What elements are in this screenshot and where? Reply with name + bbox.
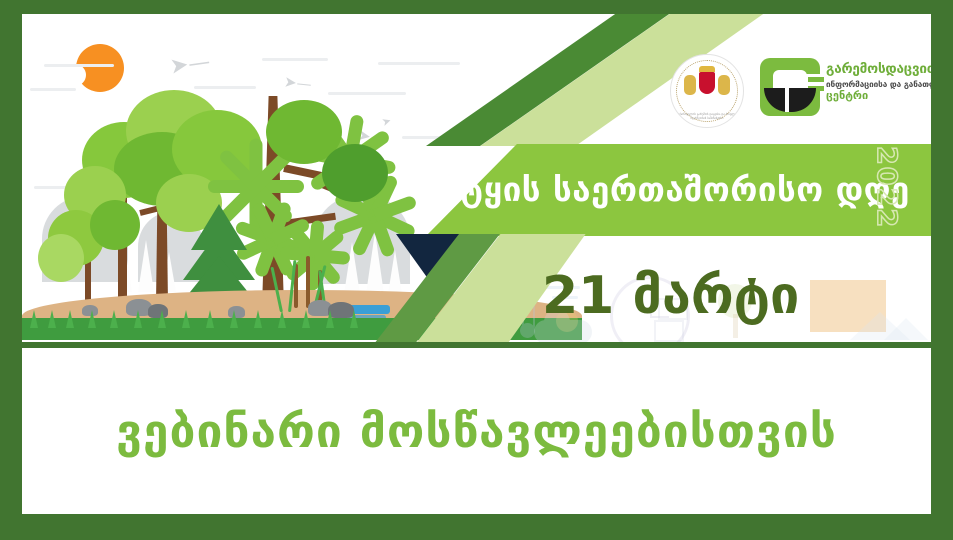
logo-book-spine: [785, 88, 789, 112]
bird-icon: ➤—: [169, 51, 212, 78]
cloud-line: [44, 64, 114, 67]
logo-line-3: ცენტრი: [826, 90, 931, 102]
grass-tuft: [110, 310, 118, 328]
grass-tuft: [158, 310, 166, 328]
event-date: 21 მარტი: [542, 266, 931, 326]
banner-title: ტყის საერთაშორისო დღე: [460, 170, 910, 209]
grass-tuft: [66, 310, 74, 328]
grass-tuft: [30, 310, 38, 328]
grass-tuft: [48, 310, 56, 328]
top-panel: ➤— ➤— ➤ ➤— ➤: [22, 14, 931, 342]
banner-year: 2022: [871, 146, 902, 256]
ministry-seal: საქართველოს გარემოს დაცვისა და სოფლის მე…: [670, 54, 744, 128]
cloud-line: [262, 58, 328, 61]
grass-tuft: [230, 310, 238, 328]
eiec-logo: გარემოსდაცვითი ინფორმაციისა და განათლები…: [760, 56, 931, 122]
cloud-line: [378, 62, 460, 65]
logo-text: გარემოსდაცვითი ინფორმაციისა და განათლები…: [826, 62, 931, 102]
tree-canopy: [280, 214, 350, 284]
grass-tuft: [302, 310, 310, 328]
cattail: [306, 256, 310, 308]
cloud-line: [30, 88, 76, 91]
grass-tuft: [326, 310, 334, 328]
sun-notch: [64, 64, 86, 86]
grass-tuft: [134, 310, 142, 328]
grass-tuft: [182, 310, 190, 328]
seal-shield: [699, 72, 715, 94]
grass-tuft: [88, 310, 96, 328]
logo-line-2: ინფორმაციისა და განათლების: [826, 79, 931, 89]
grass-tuft: [278, 310, 286, 328]
tree-canopy: [90, 200, 140, 250]
grass-tuft: [254, 310, 262, 328]
seal-caption: საქართველოს გარემოს დაცვისა და სოფლის მე…: [671, 113, 743, 120]
grass-tuft: [350, 310, 358, 328]
seal-lion-right: [718, 75, 730, 95]
tree-canopy: [322, 144, 388, 202]
seal-lion-left: [684, 75, 696, 95]
poster-root: ➤— ➤— ➤ ➤— ➤: [0, 0, 953, 540]
webinar-headline: ვებინარი მოსწავლეებისთვის: [22, 348, 931, 514]
cloud-line: [194, 86, 256, 89]
logo-line-1: გარემოსდაცვითი: [826, 62, 931, 77]
seal-crown: [699, 66, 715, 72]
cloud-line: [328, 92, 406, 95]
tree-canopy: [38, 234, 84, 282]
logo-dash: [808, 77, 824, 82]
logo-mark: [760, 58, 820, 116]
grass-tuft: [206, 310, 214, 328]
bird-icon: ➤—: [283, 75, 312, 93]
